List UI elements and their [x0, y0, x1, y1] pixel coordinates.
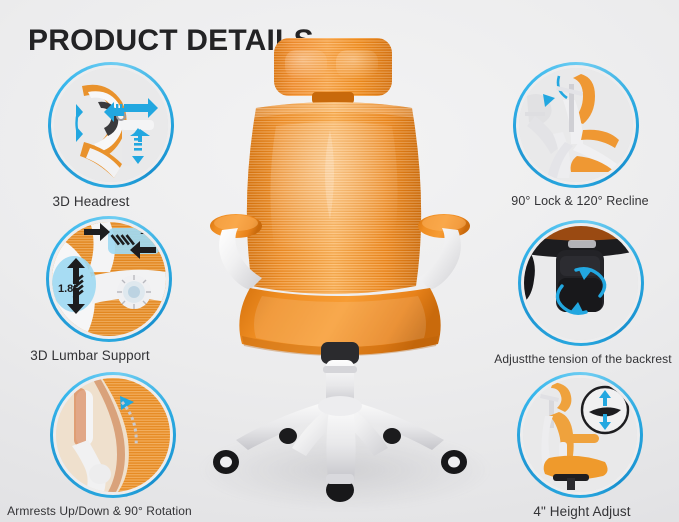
feature-ring: 1.8" 1" — [46, 216, 172, 342]
chair-armrest-right — [418, 214, 470, 290]
feature-ring — [50, 372, 176, 498]
feature-caption: 90° Lock & 120° Recline — [495, 194, 665, 208]
feature-caption: Adjustthe tension of the backrest — [488, 352, 678, 366]
feature-ring — [517, 372, 643, 498]
feature-caption: 3D Lumbar Support — [0, 348, 190, 363]
feature-3d-headrest[interactable]: 3D Headrest — [0, 62, 186, 209]
feature-lock-recline[interactable]: 90° Lock & 120° Recline — [495, 62, 665, 208]
tension-knob-icon — [524, 226, 638, 340]
feature-3d-lumbar-support[interactable]: 1.8" 1" 3D Lumbar Support — [0, 216, 190, 363]
chair-backrest — [247, 102, 421, 294]
feature-armrests-rotation[interactable]: Armrests Up/Down & 90° Rotation — [0, 372, 207, 518]
feature-ring — [513, 62, 639, 188]
feature-caption: Armrests Up/Down & 90° Rotation — [0, 504, 207, 518]
feature-height-adjust[interactable]: 4" Height Adjust — [497, 372, 667, 519]
feature-caption: 3D Headrest — [0, 194, 186, 209]
recline-icon — [519, 68, 633, 182]
feature-backrest-tension[interactable]: Adjustthe tension of the backrest — [488, 220, 678, 366]
lumbar-adjust-icon: 1.8" 1" — [52, 222, 166, 336]
feature-caption: 4" Height Adjust — [497, 504, 667, 519]
product-details-infographic: PRODUCT DETAILS — [0, 0, 679, 522]
feature-ring — [518, 220, 644, 346]
headrest-adjust-icon — [54, 68, 168, 182]
height-lever-icon — [523, 378, 637, 492]
chair-headrest — [274, 38, 392, 104]
armrest-rotate-icon — [56, 378, 170, 492]
feature-ring — [48, 62, 174, 188]
lumbar-vertical-measure: 1.8" — [58, 283, 79, 295]
office-chair-image — [190, 30, 490, 510]
chair-base — [236, 396, 444, 480]
